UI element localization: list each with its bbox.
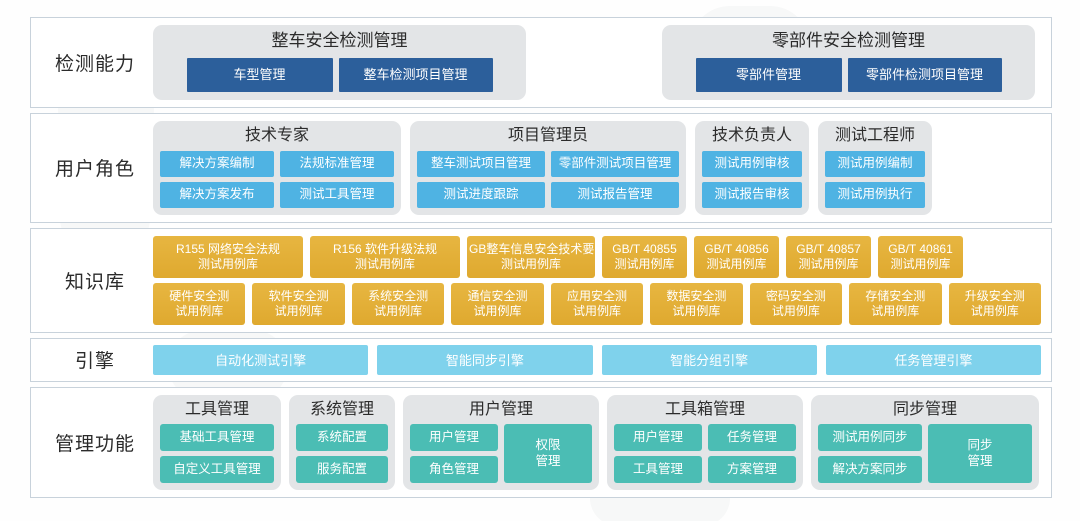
layer-body-detection: 整车安全检测管理 车型管理 整车检测项目管理 零部件安全检测管理 零部件管理 零… bbox=[153, 25, 1041, 100]
kb-line2: 测试用例库 bbox=[155, 257, 301, 272]
chip-vehicle-model-management[interactable]: 车型管理 bbox=[187, 58, 333, 92]
kb-line2: 试用例库 bbox=[553, 304, 641, 319]
group-toolbox-management: 工具箱管理 用户管理 工具管理 任务管理 方案管理 bbox=[607, 395, 803, 491]
group-title: 零部件安全检测管理 bbox=[772, 29, 925, 58]
chip-solution-publish[interactable]: 解决方案发布 bbox=[160, 182, 274, 208]
chip-column: 用户管理 角色管理 bbox=[410, 424, 498, 483]
chip-service-configuration[interactable]: 服务配置 bbox=[296, 456, 388, 483]
chip-component-management[interactable]: 零部件管理 bbox=[696, 58, 842, 92]
kb-line1: GB/T 40861 bbox=[880, 242, 961, 257]
kb-line2: 测试用例库 bbox=[604, 257, 685, 272]
kb-card-gbt-40855[interactable]: GB/T 40855 测试用例库 bbox=[602, 236, 687, 278]
group-title: 测试工程师 bbox=[835, 124, 915, 151]
chip-toolbox-user-management[interactable]: 用户管理 bbox=[614, 424, 702, 451]
engine-task-management[interactable]: 任务管理引擎 bbox=[826, 345, 1041, 375]
kb-line2: 测试用例库 bbox=[788, 257, 869, 272]
chip-toolbox-tool-management[interactable]: 工具管理 bbox=[614, 456, 702, 483]
kb-line2: 试用例库 bbox=[752, 304, 840, 319]
knowledge-base-row-regulations: R155 网络安全法规 测试用例库 R156 软件升级法规 测试用例库 GB整车… bbox=[153, 236, 1041, 278]
chip-column: 基础工具管理 自定义工具管理 bbox=[160, 424, 274, 483]
chip-test-tool-management[interactable]: 测试工具管理 bbox=[280, 182, 394, 208]
chip-solution-authoring[interactable]: 解决方案编制 bbox=[160, 151, 274, 177]
group-title: 同步管理 bbox=[893, 398, 957, 425]
chip-column: 测试用例审核 测试报告审核 bbox=[702, 151, 802, 208]
chip-sync-management[interactable]: 同步 管理 bbox=[928, 424, 1032, 483]
kb-line1: R156 软件升级法规 bbox=[312, 242, 458, 257]
layer-knowledge-base: 知识库 R155 网络安全法规 测试用例库 R156 软件升级法规 测试用例库 … bbox=[30, 228, 1052, 333]
kb-line2: 测试用例库 bbox=[880, 257, 961, 272]
chip-component-test-project-management[interactable]: 零部件测试项目管理 bbox=[551, 151, 679, 177]
group-chips: 零部件管理 零部件检测项目管理 bbox=[696, 58, 1002, 92]
kb-line2: 试用例库 bbox=[652, 304, 740, 319]
kb-card-system-security[interactable]: 系统安全测 试用例库 bbox=[352, 283, 444, 325]
layer-detection-capability: 检测能力 整车安全检测管理 车型管理 整车检测项目管理 零部件安全检测管理 零部… bbox=[30, 17, 1052, 108]
kb-line1: GB/T 40857 bbox=[788, 242, 869, 257]
layer-engines: 引擎 自动化测试引擎 智能同步引擎 智能分组引擎 任务管理引擎 bbox=[30, 338, 1052, 382]
group-title: 整车安全检测管理 bbox=[272, 29, 408, 58]
chip-column: 系统配置 服务配置 bbox=[296, 424, 388, 483]
group-chips: 基础工具管理 自定义工具管理 bbox=[160, 424, 274, 483]
knowledge-base-row-domains: 硬件安全测 试用例库 软件安全测 试用例库 系统安全测 试用例库 通信安全测 试… bbox=[153, 283, 1041, 325]
group-chips: 测试用例审核 测试报告审核 bbox=[702, 151, 802, 208]
kb-card-r156[interactable]: R156 软件升级法规 测试用例库 bbox=[310, 236, 460, 278]
kb-card-application-security[interactable]: 应用安全测 试用例库 bbox=[551, 283, 643, 325]
chip-line2: 管理 bbox=[535, 454, 560, 470]
chip-column: 零部件测试项目管理 测试报告管理 bbox=[551, 151, 679, 208]
chip-column: 解决方案编制 解决方案发布 bbox=[160, 151, 274, 208]
group-chips: 用户管理 工具管理 任务管理 方案管理 bbox=[614, 424, 796, 483]
architecture-diagram: 检测能力 整车安全检测管理 车型管理 整车检测项目管理 零部件安全检测管理 零部… bbox=[0, 0, 1080, 521]
kb-line1: R155 网络安全法规 bbox=[155, 242, 301, 257]
chip-column: 测试用例编制 测试用例执行 bbox=[825, 151, 925, 208]
layer-body-management: 工具管理 基础工具管理 自定义工具管理 系统管理 系统配置 服务配置 bbox=[153, 395, 1041, 491]
layer-body-knowledge-base: R155 网络安全法规 测试用例库 R156 软件升级法规 测试用例库 GB整车… bbox=[153, 236, 1041, 325]
kb-line1: GB/T 40855 bbox=[604, 242, 685, 257]
kb-line1: 密码安全测 bbox=[752, 289, 840, 304]
group-title: 技术专家 bbox=[245, 124, 309, 151]
chip-role-management[interactable]: 角色管理 bbox=[410, 456, 498, 483]
chip-column: 任务管理 方案管理 bbox=[708, 424, 796, 483]
kb-line2: 测试用例库 bbox=[696, 257, 777, 272]
chip-component-detection-project-management[interactable]: 零部件检测项目管理 bbox=[848, 58, 1002, 92]
kb-line2: 试用例库 bbox=[354, 304, 442, 319]
kb-line1: 升级安全测 bbox=[951, 289, 1039, 304]
kb-card-gbt-40857[interactable]: GB/T 40857 测试用例库 bbox=[786, 236, 871, 278]
group-user-management: 用户管理 用户管理 角色管理 权限 管理 bbox=[403, 395, 599, 491]
kb-line1: GB整车信息安全技术要求 bbox=[469, 242, 593, 257]
kb-line2: 试用例库 bbox=[453, 304, 541, 319]
chip-vehicle-test-project-management[interactable]: 整车测试项目管理 bbox=[417, 151, 545, 177]
kb-card-data-security[interactable]: 数据安全测 试用例库 bbox=[650, 283, 742, 325]
kb-line1: GB/T 40856 bbox=[696, 242, 777, 257]
layer-label-management: 管理功能 bbox=[31, 429, 153, 456]
group-title: 系统管理 bbox=[310, 398, 374, 425]
kb-line1: 应用安全测 bbox=[553, 289, 641, 304]
chip-regulation-standard-management[interactable]: 法规标准管理 bbox=[280, 151, 394, 177]
kb-card-communication-security[interactable]: 通信安全测 试用例库 bbox=[451, 283, 543, 325]
kb-line2: 测试用例库 bbox=[312, 257, 458, 272]
group-sync-management: 同步管理 测试用例同步 解决方案同步 同步 管理 bbox=[811, 395, 1039, 491]
chip-column: 法规标准管理 测试工具管理 bbox=[280, 151, 394, 208]
chip-basic-tool-management[interactable]: 基础工具管理 bbox=[160, 424, 274, 451]
chip-column: 测试用例同步 解决方案同步 bbox=[818, 424, 922, 483]
kb-card-software-security[interactable]: 软件安全测 试用例库 bbox=[252, 283, 344, 325]
chip-toolbox-task-management[interactable]: 任务管理 bbox=[708, 424, 796, 451]
chip-user-management[interactable]: 用户管理 bbox=[410, 424, 498, 451]
group-chips: 车型管理 整车检测项目管理 bbox=[187, 58, 493, 92]
group-title: 技术负责人 bbox=[712, 124, 792, 151]
layer-body-engines: 自动化测试引擎 智能同步引擎 智能分组引擎 任务管理引擎 bbox=[153, 345, 1041, 375]
kb-card-storage-security[interactable]: 存储安全测 试用例库 bbox=[849, 283, 941, 325]
group-chips: 测试用例同步 解决方案同步 同步 管理 bbox=[818, 424, 1032, 483]
kb-line1: 硬件安全测 bbox=[155, 289, 243, 304]
chip-line2: 管理 bbox=[967, 454, 992, 470]
kb-card-gbt-40861[interactable]: GB/T 40861 测试用例库 bbox=[878, 236, 963, 278]
group-test-engineer: 测试工程师 测试用例编制 测试用例执行 bbox=[818, 121, 932, 215]
group-vehicle-security-detection: 整车安全检测管理 车型管理 整车检测项目管理 bbox=[153, 25, 526, 100]
chip-line1: 同步 bbox=[967, 438, 992, 454]
chip-test-progress-tracking[interactable]: 测试进度跟踪 bbox=[417, 182, 545, 208]
layer-label-engines: 引擎 bbox=[31, 346, 153, 373]
chip-column: 用户管理 工具管理 bbox=[614, 424, 702, 483]
group-chips: 解决方案编制 解决方案发布 法规标准管理 测试工具管理 bbox=[160, 151, 394, 208]
kb-line2: 测试用例库 bbox=[469, 257, 593, 272]
layer-body-user-roles: 技术专家 解决方案编制 解决方案发布 法规标准管理 测试工具管理 项目管理员 bbox=[153, 121, 1041, 215]
chip-toolbox-solution-management[interactable]: 方案管理 bbox=[708, 456, 796, 483]
chip-test-case-sync[interactable]: 测试用例同步 bbox=[818, 424, 922, 451]
layer-label-knowledge-base: 知识库 bbox=[31, 267, 153, 294]
kb-card-r155[interactable]: R155 网络安全法规 测试用例库 bbox=[153, 236, 303, 278]
kb-line2: 试用例库 bbox=[951, 304, 1039, 319]
engine-intelligent-grouping[interactable]: 智能分组引擎 bbox=[602, 345, 817, 375]
group-technical-expert: 技术专家 解决方案编制 解决方案发布 法规标准管理 测试工具管理 bbox=[153, 121, 401, 215]
chip-column: 整车测试项目管理 测试进度跟踪 bbox=[417, 151, 545, 208]
group-project-manager: 项目管理员 整车测试项目管理 测试进度跟踪 零部件测试项目管理 测试报告管理 bbox=[410, 121, 686, 215]
chip-line1: 权限 bbox=[535, 438, 560, 454]
group-technical-lead: 技术负责人 测试用例审核 测试报告审核 bbox=[695, 121, 809, 215]
group-chips: 测试用例编制 测试用例执行 bbox=[825, 151, 925, 208]
group-component-security-detection: 零部件安全检测管理 零部件管理 零部件检测项目管理 bbox=[662, 25, 1035, 100]
kb-line1: 系统安全测 bbox=[354, 289, 442, 304]
kb-card-upgrade-security[interactable]: 升级安全测 试用例库 bbox=[949, 283, 1041, 325]
chip-system-configuration[interactable]: 系统配置 bbox=[296, 424, 388, 451]
kb-line1: 软件安全测 bbox=[254, 289, 342, 304]
chip-test-case-execution[interactable]: 测试用例执行 bbox=[825, 182, 925, 208]
group-system-management: 系统管理 系统配置 服务配置 bbox=[289, 395, 395, 491]
group-chips: 整车测试项目管理 测试进度跟踪 零部件测试项目管理 测试报告管理 bbox=[417, 151, 679, 208]
kb-line2: 试用例库 bbox=[155, 304, 243, 319]
chip-solution-sync[interactable]: 解决方案同步 bbox=[818, 456, 922, 483]
chip-test-case-review[interactable]: 测试用例审核 bbox=[702, 151, 802, 177]
layer-label-detection: 检测能力 bbox=[31, 49, 153, 76]
kb-line1: 通信安全测 bbox=[453, 289, 541, 304]
chip-test-report-management[interactable]: 测试报告管理 bbox=[551, 182, 679, 208]
kb-card-gb-vehicle-info-security[interactable]: GB整车信息安全技术要求 测试用例库 bbox=[467, 236, 595, 278]
layer-management-functions: 管理功能 工具管理 基础工具管理 自定义工具管理 系统管理 系统配置 服务配置 bbox=[30, 387, 1052, 499]
chip-test-report-review[interactable]: 测试报告审核 bbox=[702, 182, 802, 208]
chip-test-case-authoring[interactable]: 测试用例编制 bbox=[825, 151, 925, 177]
group-chips: 系统配置 服务配置 bbox=[296, 424, 388, 483]
kb-line1: 存储安全测 bbox=[851, 289, 939, 304]
group-title: 项目管理员 bbox=[508, 124, 588, 151]
group-title: 工具管理 bbox=[185, 398, 249, 425]
engine-automated-testing[interactable]: 自动化测试引擎 bbox=[153, 345, 368, 375]
chip-custom-tool-management[interactable]: 自定义工具管理 bbox=[160, 456, 274, 483]
kb-card-cryptography-security[interactable]: 密码安全测 试用例库 bbox=[750, 283, 842, 325]
chip-vehicle-detection-project-management[interactable]: 整车检测项目管理 bbox=[339, 58, 493, 92]
group-tool-management: 工具管理 基础工具管理 自定义工具管理 bbox=[153, 395, 281, 491]
engine-intelligent-sync[interactable]: 智能同步引擎 bbox=[377, 345, 592, 375]
layer-label-user-roles: 用户角色 bbox=[31, 154, 153, 181]
kb-card-gbt-40856[interactable]: GB/T 40856 测试用例库 bbox=[694, 236, 779, 278]
group-chips: 用户管理 角色管理 权限 管理 bbox=[410, 424, 592, 483]
group-title: 工具箱管理 bbox=[665, 398, 745, 425]
kb-card-hardware-security[interactable]: 硬件安全测 试用例库 bbox=[153, 283, 245, 325]
kb-line2: 试用例库 bbox=[254, 304, 342, 319]
kb-line2: 试用例库 bbox=[851, 304, 939, 319]
chip-permission-management[interactable]: 权限 管理 bbox=[504, 424, 592, 483]
kb-line1: 数据安全测 bbox=[652, 289, 740, 304]
group-title: 用户管理 bbox=[469, 398, 533, 425]
layer-user-roles: 用户角色 技术专家 解决方案编制 解决方案发布 法规标准管理 测试工具管理 项目… bbox=[30, 113, 1052, 223]
